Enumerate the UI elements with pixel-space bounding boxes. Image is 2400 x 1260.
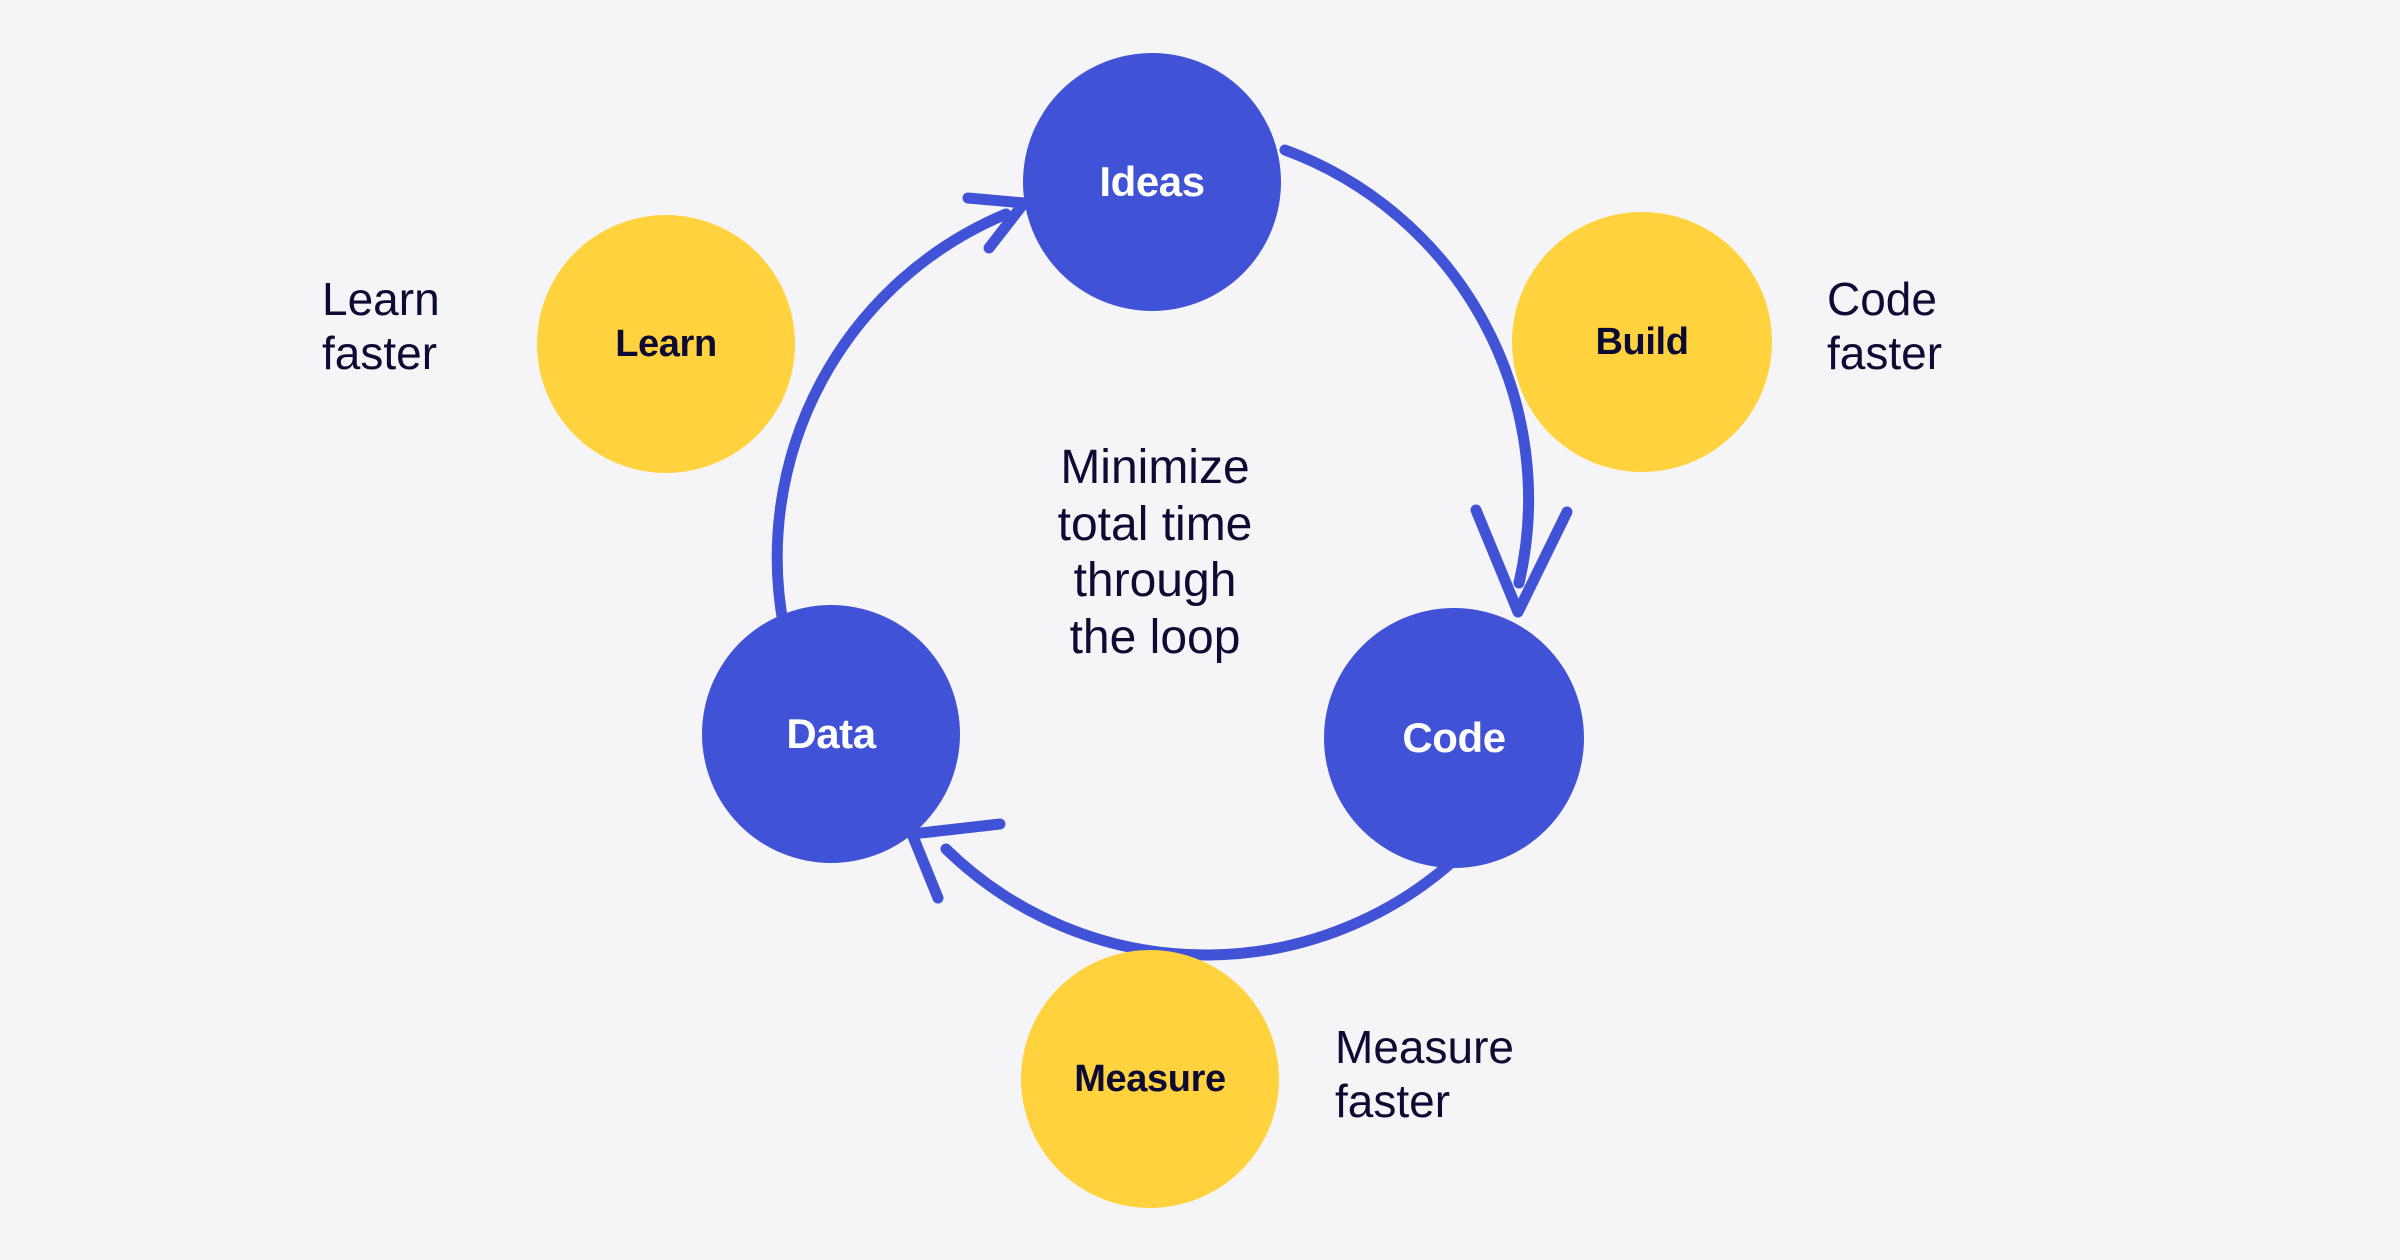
loop-node-code-label: Code <box>1402 717 1505 759</box>
caption-code-faster: Code faster <box>1827 272 1942 381</box>
loop-node-ideas[interactable]: Ideas <box>1023 53 1281 311</box>
loop-node-data[interactable]: Data <box>702 605 960 863</box>
caption-learn-faster: Learn faster <box>322 272 440 381</box>
diagram-canvas: Minimize total time through the loop Ide… <box>0 0 2400 1260</box>
action-node-measure[interactable]: Measure <box>1021 950 1279 1208</box>
action-node-measure-label: Measure <box>1074 1060 1226 1098</box>
action-node-learn[interactable]: Learn <box>537 215 795 473</box>
loop-node-code[interactable]: Code <box>1324 608 1584 868</box>
loop-node-data-label: Data <box>786 713 875 755</box>
action-node-build[interactable]: Build <box>1512 212 1772 472</box>
caption-measure-faster: Measure faster <box>1335 1020 1514 1129</box>
loop-node-ideas-label: Ideas <box>1099 161 1204 203</box>
action-node-learn-label: Learn <box>615 325 717 363</box>
center-caption: Minimize total time through the loop <box>930 440 1380 667</box>
action-node-build-label: Build <box>1595 323 1688 361</box>
